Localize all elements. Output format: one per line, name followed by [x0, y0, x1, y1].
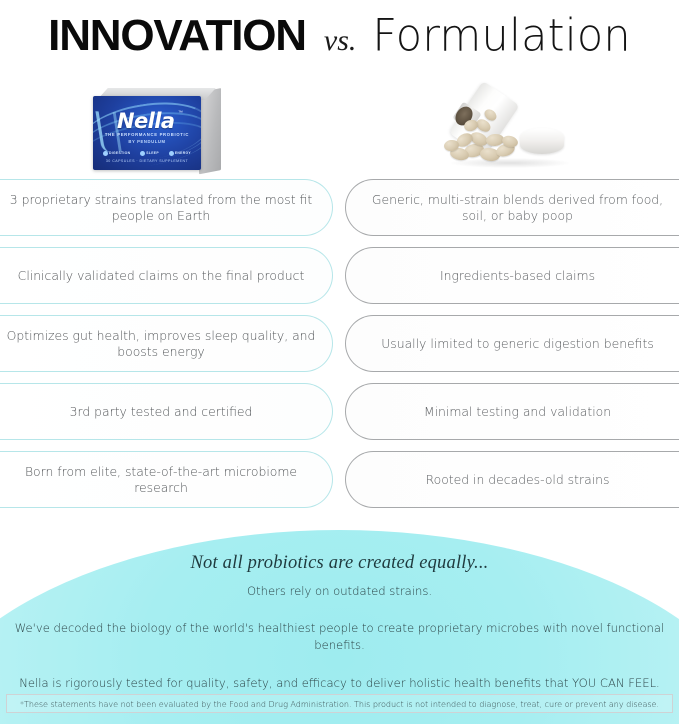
comparison-cell-left: 3rd party tested and certified	[0, 383, 333, 440]
comparison-row: Born from elite, state-of-the-art microb…	[0, 451, 679, 508]
comparison-text-right: Minimal testing and validation	[424, 404, 611, 420]
badge-dot-icon	[103, 151, 108, 156]
comparison-row: 3rd party tested and certified Minimal t…	[0, 383, 679, 440]
pill-bottle-image	[440, 84, 580, 176]
comparison-text-left: Born from elite, state-of-the-art microb…	[6, 464, 316, 496]
comparison-row: Clinically validated claims on the final…	[0, 247, 679, 304]
comparison-text-left: Optimizes gut health, improves sleep qua…	[6, 328, 316, 360]
comparison-row: Optimizes gut health, improves sleep qua…	[0, 315, 679, 372]
comparison-text-right: Usually limited to generic digestion ben…	[381, 336, 654, 352]
comparison-cell-right: Minimal testing and validation	[345, 383, 679, 440]
comparison-text-left: 3rd party tested and certified	[70, 404, 253, 420]
title-innovation: INNOVATION	[48, 14, 306, 58]
fda-disclaimer: *These statements have not been evaluate…	[6, 694, 673, 713]
box-byline: BY PENDULUM	[93, 139, 201, 144]
nella-product-box-image: Nella ™ THE PERFORMANCE PROBIOTIC BY PEN…	[93, 88, 221, 170]
comparison-text-right: Ingredients-based claims	[440, 268, 595, 284]
comparison-text-right: Rooted in decades-old strains	[426, 472, 610, 488]
product-image-row: Nella ™ THE PERFORMANCE PROBIOTIC BY PEN…	[0, 84, 679, 176]
comparison-cell-right: Rooted in decades-old strains	[345, 451, 679, 508]
comparison-cell-right: Usually limited to generic digestion ben…	[345, 315, 679, 372]
box-badge: DIGESTION	[103, 151, 130, 156]
box-footer-text: 30 CAPSULES · DIETARY SUPPLEMENT	[93, 159, 201, 163]
box-badge-group: DIGESTION SLEEP ENERGY	[103, 149, 191, 157]
box-trademark-symbol: ™	[178, 110, 183, 116]
comparison-cell-left: 3 proprietary strains translated from th…	[0, 179, 333, 236]
header: INNOVATION vs. Formulation	[0, 14, 679, 74]
badge-label: SLEEP	[146, 151, 159, 155]
comparison-text-left: 3 proprietary strains translated from th…	[6, 192, 316, 224]
comparison-text-right: Generic, multi-strain blends derived fro…	[362, 192, 673, 224]
comparison-text-left: Clinically validated claims on the final…	[18, 268, 305, 284]
box-front-panel: Nella ™ THE PERFORMANCE PROBIOTIC BY PEN…	[93, 96, 201, 170]
box-brand-name: Nella	[117, 109, 174, 133]
comparison-cell-right: Generic, multi-strain blends derived fro…	[345, 179, 679, 236]
comparison-rows: 3 proprietary strains translated from th…	[0, 179, 679, 524]
badge-dot-icon	[169, 151, 174, 156]
box-side-panel	[199, 88, 221, 174]
title-vs-separator: vs.	[324, 26, 357, 56]
box-badge: SLEEP	[140, 151, 159, 156]
box-tagline: THE PERFORMANCE PROBIOTIC	[93, 132, 201, 137]
bottom-paragraph-1: We've decoded the biology of the world's…	[0, 620, 679, 655]
comparison-cell-left: Optimizes gut health, improves sleep qua…	[0, 315, 333, 372]
title-formulation: Formulation	[372, 14, 630, 59]
bottom-headline: Not all probiotics are created equally..…	[0, 553, 679, 574]
fda-disclaimer-text: *These statements have not been evaluate…	[20, 699, 659, 709]
comparison-cell-right: Ingredients-based claims	[345, 247, 679, 304]
badge-dot-icon	[140, 151, 145, 156]
bottom-message-block: Not all probiotics are created equally..…	[0, 553, 679, 692]
bottle-cap	[520, 128, 564, 154]
comparison-cell-left: Clinically validated claims on the final…	[0, 247, 333, 304]
badge-label: DIGESTION	[109, 151, 130, 155]
box-badge: ENERGY	[169, 151, 191, 156]
bottom-subhead: Others rely on outdated strains.	[0, 584, 679, 598]
comparison-cell-left: Born from elite, state-of-the-art microb…	[0, 451, 333, 508]
comparison-row: 3 proprietary strains translated from th…	[0, 179, 679, 236]
bottle-shadow	[450, 158, 570, 168]
badge-label: ENERGY	[175, 151, 191, 155]
bottom-paragraph-2: Nella is rigorously tested for quality, …	[0, 675, 679, 692]
infographic-page: INNOVATION vs. Formulation Nella ™ THE P…	[0, 0, 679, 724]
